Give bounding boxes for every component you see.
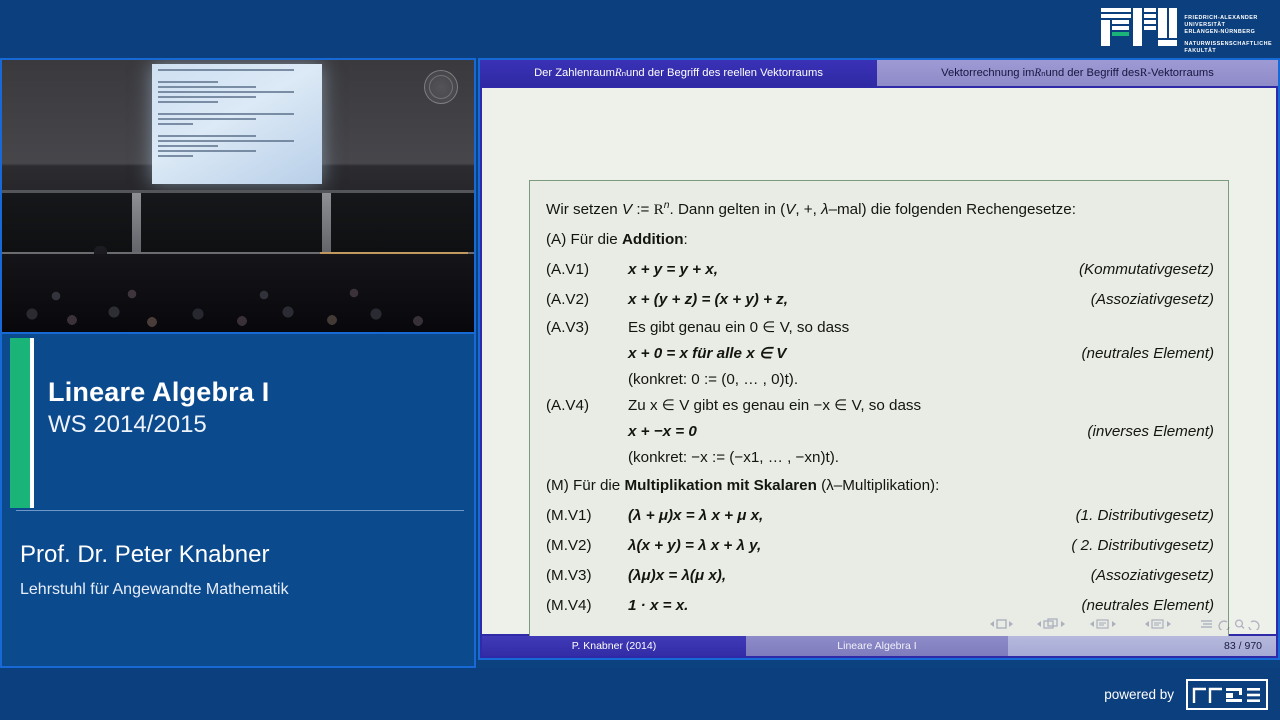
axiom-tag: (M.V4) <box>546 591 628 621</box>
axiom-row: (A.V3) Es gibt genau ein 0 ∈ V, so dass <box>546 315 1214 341</box>
fau-logo-mark-icon <box>1101 6 1177 48</box>
university-seal-watermark-icon <box>424 70 458 104</box>
slide-viewer[interactable]: Der Zahlenraum Rn und der Begriff des re… <box>478 58 1280 660</box>
bottom-footer-bar: powered by <box>0 668 1280 720</box>
panel-divider <box>16 510 464 511</box>
fau-line-3: ERLANGEN-NÜRNBERG <box>1184 29 1272 36</box>
lecture-video-frame <box>2 60 474 332</box>
tab-1-text-after2: -Vektorraums <box>1147 67 1214 79</box>
axiom-law: (Kommutativgesetz) <box>1079 255 1214 285</box>
subsection-nav-group-icon <box>1089 618 1141 630</box>
tab-0-text-before: Der Zahlenraum <box>534 67 615 79</box>
intro-p3: , +, <box>795 201 821 218</box>
axiom-tag: (M.V2) <box>546 531 628 561</box>
axiom-line-2: x + 0 = x für alle x ∈ V <box>628 341 1081 367</box>
course-term: WS 2014/2015 <box>48 410 269 440</box>
tab-1-math: R <box>1034 67 1041 79</box>
intro-line: Wir setzen V := Rn. Dann gelten in (V, +… <box>546 191 1214 225</box>
intro-p1: Wir setzen <box>546 201 622 218</box>
axiom-tag: (A.V2) <box>546 285 628 315</box>
projected-slide <box>152 64 322 184</box>
axiom-equation: 1 · x = x. <box>628 591 1081 621</box>
axiom-row: (A.V2) x + (y + z) = (x + y) + z, (Assoz… <box>546 285 1214 315</box>
axiom-tag: (M.V3) <box>546 561 628 591</box>
axiom-equation: x + y = y + x, <box>628 255 1079 285</box>
tab-1-text-before: Vektorrechnung im <box>941 67 1034 79</box>
axiom-law: (Assoziativgesetz) <box>1091 561 1214 591</box>
axiom-equation: (λ + μ)x = λ x + μ x, <box>628 501 1076 531</box>
intro-p4: –mal) die folgenden Rechengesetze: <box>829 201 1076 218</box>
theorem-box: Wir setzen V := Rn. Dann gelten in (V, +… <box>529 180 1229 642</box>
presenter-name: Prof. Dr. Peter Knabner <box>20 540 289 570</box>
axiom-tag: (M.V1) <box>546 501 628 531</box>
presenter-chair: Lehrstuhl für Angewandte Mathematik <box>20 579 289 601</box>
axiom-line-3: (konkret: −x := (−x1, … , −xn)t). <box>546 445 1214 471</box>
axiom-law: (neutrales Element) <box>1081 341 1214 367</box>
audience-area <box>2 254 474 332</box>
beamer-navigation-bar[interactable] <box>989 618 1260 630</box>
rrze-logo-icon <box>1186 679 1268 710</box>
slide-nav-group-icon <box>989 618 1033 630</box>
axiom-row: (A.V1) x + y = y + x, (Kommutativgesetz) <box>546 255 1214 285</box>
app-window: FRIEDRICH-ALEXANDER UNIVERSITÄT ERLANGEN… <box>0 0 1280 720</box>
axiom-line-1: Zu x ∈ V gibt es genau ein −x ∈ V, so da… <box>628 393 1214 419</box>
lecture-hall-blackboard <box>2 190 474 256</box>
axiom-line-1: Es gibt genau ein 0 ∈ V, so dass <box>628 315 1214 341</box>
axiom-row: (M.V2) λ(x + y) = λ x + λ y, ( 2. Distri… <box>546 531 1214 561</box>
contents-icon <box>1199 618 1215 630</box>
course-title: Lineare Algebra I <box>48 376 269 408</box>
back-search-forward-icon <box>1218 618 1260 630</box>
fau-logo: FRIEDRICH-ALEXANDER UNIVERSITÄT ERLANGEN… <box>1101 6 1272 55</box>
axiom-equation: (λμ)x = λ(μ x), <box>628 561 1091 591</box>
axiom-row: (A.V4) Zu x ∈ V gibt es genau ein −x ∈ V… <box>546 393 1214 419</box>
footer-page-number: 83 / 970 <box>1008 636 1276 656</box>
presenter-block: Prof. Dr. Peter Knabner Lehrstuhl für An… <box>20 540 289 601</box>
intro-lambda: λ <box>821 201 828 218</box>
top-header-bar: FRIEDRICH-ALEXANDER UNIVERSITÄT ERLANGEN… <box>0 0 1280 58</box>
axiom-law: (1. Distributivgesetz) <box>1076 501 1214 531</box>
footer-author: P. Knabner (2014) <box>482 636 746 656</box>
axiom-row: (M.V1) (λ + μ)x = λ x + μ x, (1. Distrib… <box>546 501 1214 531</box>
addition-suffix: : <box>684 231 688 248</box>
axiom-subrow: x + −x = 0 (inverses Element) <box>546 419 1214 445</box>
mult-prefix: (M) Für die <box>546 477 624 494</box>
axiom-subrow: x + 0 = x für alle x ∈ V (neutrales Elem… <box>546 341 1214 367</box>
axiom-equation: x + (y + z) = (x + y) + z, <box>628 285 1091 315</box>
section-addition-heading: (A) Für die Addition: <box>546 225 1214 255</box>
section-nav-group-icon <box>1144 618 1196 630</box>
slide-footer: P. Knabner (2014) Lineare Algebra I 83 /… <box>482 636 1276 656</box>
accent-bar-green <box>10 338 30 508</box>
tab-1-math2: R <box>1140 67 1147 79</box>
axiom-equation: λ(x + y) = λ x + λ y, <box>628 531 1071 561</box>
mult-bold: Multiplikation mit Skalaren <box>624 477 816 494</box>
tab-section-vektorrechnung[interactable]: Vektorrechnung im Rn und der Begriff des… <box>877 60 1278 86</box>
slide-content: Wir setzen V := Rn. Dann gelten in (V, +… <box>482 88 1276 634</box>
slide-section-tabs: Der Zahlenraum Rn und der Begriff des re… <box>480 60 1278 86</box>
powered-by-label: powered by <box>1104 687 1174 702</box>
axiom-tag: (A.V3) <box>546 315 628 341</box>
course-info-panel: Lineare Algebra I WS 2014/2015 Prof. Dr.… <box>0 334 476 668</box>
axiom-law: (inverses Element) <box>1087 419 1214 445</box>
axiom-tag: (A.V1) <box>546 255 628 285</box>
fau-faculty-line-2: FAKULTÄT <box>1184 48 1272 55</box>
powered-by-block: powered by <box>1104 679 1268 710</box>
tab-0-math: R <box>615 67 622 79</box>
axiom-law: ( 2. Distributivgesetz) <box>1071 531 1214 561</box>
intro-V2: V <box>785 201 795 218</box>
intro-p2: . Dann gelten in ( <box>670 201 786 218</box>
axiom-law: (Assoziativgesetz) <box>1091 285 1214 315</box>
section-multiplication-heading: (M) Für die Multiplikation mit Skalaren … <box>546 471 1214 501</box>
intro-V: V <box>622 201 632 218</box>
footer-title: Lineare Algebra I <box>746 636 1008 656</box>
axiom-line-2: x + −x = 0 <box>628 419 1087 445</box>
axiom-row: (M.V4) 1 · x = x. (neutrales Element) <box>546 591 1214 621</box>
intro-assign: := <box>632 201 654 218</box>
frame-nav-group-icon <box>1036 618 1086 630</box>
intro-R: R <box>654 201 664 218</box>
addition-prefix: (A) Für die <box>546 231 622 248</box>
addition-bold: Addition <box>622 231 684 248</box>
accent-bar-white <box>30 338 34 508</box>
axiom-tag: (A.V4) <box>546 393 628 419</box>
tab-1-text-after: und der Begriff des <box>1046 67 1140 79</box>
tab-0-text-after: und der Begriff des reellen Vektorraums <box>626 67 823 79</box>
lecture-video-panel[interactable] <box>0 58 476 334</box>
course-title-block: Lineare Algebra I WS 2014/2015 <box>48 376 269 440</box>
fau-logo-wordmark: FRIEDRICH-ALEXANDER UNIVERSITÄT ERLANGEN… <box>1184 6 1272 55</box>
tab-section-zahlenraum[interactable]: Der Zahlenraum Rn und der Begriff des re… <box>480 60 877 86</box>
mult-suffix: (λ–Multiplikation): <box>817 477 939 494</box>
axiom-line-3: (konkret: 0 := (0, … , 0)t). <box>546 367 1214 393</box>
axiom-row: (M.V3) (λμ)x = λ(μ x), (Assoziativgesetz… <box>546 561 1214 591</box>
axiom-law: (neutrales Element) <box>1081 591 1214 621</box>
